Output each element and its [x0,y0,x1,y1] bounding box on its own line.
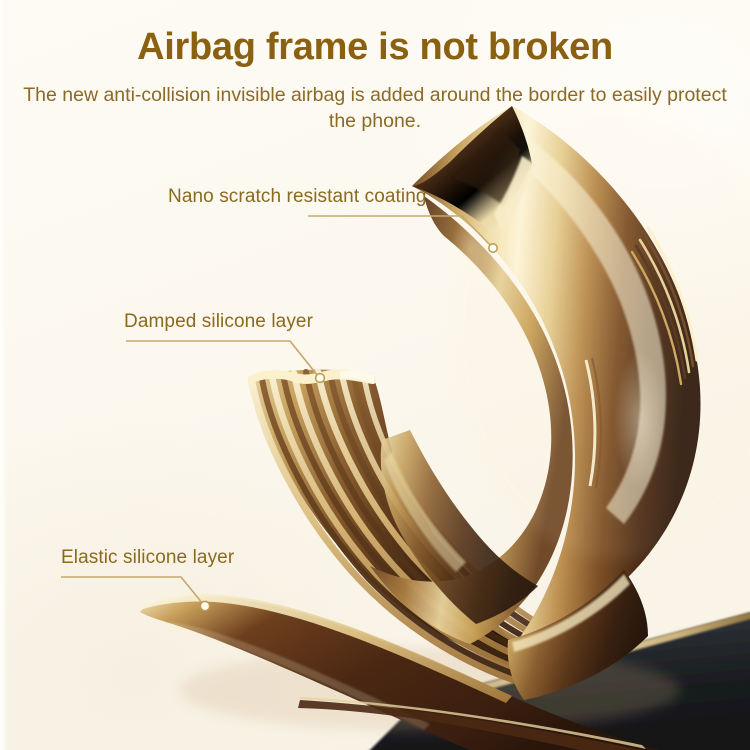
page-subtitle: The new anti-collision invisible airbag … [0,82,750,134]
callout-label-elastic-silicone: Elastic silicone layer [61,547,234,569]
callout-label-nano-coating: Nano scratch resistant coating [168,186,427,208]
product-feature-image: Airbag frame is not broken The new anti-… [0,0,750,750]
page-title: Airbag frame is not broken [0,26,750,69]
callout-label-damped-silicone: Damped silicone layer [124,311,313,333]
